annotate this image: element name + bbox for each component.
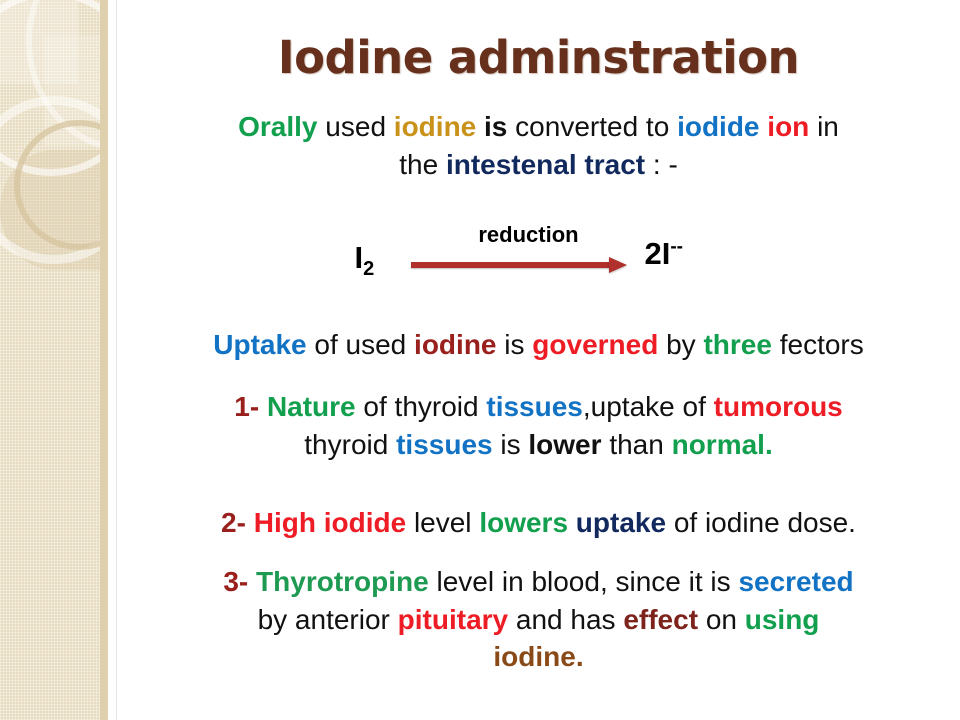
item1-word-normal: normal. (672, 429, 773, 460)
item2-word-lowers: lowers (479, 507, 568, 538)
intro-word-used: used (325, 111, 386, 142)
item3-word-iodine: iodine. (493, 641, 583, 672)
item1-word-than: than (609, 429, 664, 460)
item3-word-secreted: secreted (738, 566, 853, 597)
uptake-word-three: three (703, 329, 771, 360)
arrow-head (609, 257, 627, 273)
item1-word-thyroid: thyroid (304, 429, 388, 460)
intro-paragraph: Orally used iodine is converted to iodid… (117, 108, 960, 183)
intro-word-colon-dash: : - (653, 149, 678, 180)
page-title: Iodine adminstration (117, 34, 960, 81)
intro-word-in: in (817, 111, 839, 142)
list-item-2: 2- High iodide level lowers uptake of io… (117, 504, 960, 542)
intro-word-converted-to: converted to (515, 111, 669, 142)
item2-number: 2- (221, 507, 246, 538)
arrow-shaft (411, 262, 615, 268)
sidebar-edge-strip (100, 0, 108, 720)
intro-line-2: the intestenal tract : - (117, 146, 960, 184)
item2-word-level: level (414, 507, 472, 538)
chemical-equation: I2 reduction 2I-- (117, 222, 960, 292)
item3-word-pituitary: pituitary (398, 604, 508, 635)
uptake-word-uptake: Uptake (213, 329, 306, 360)
list-item-1: 1- Nature of thyroid tissues,uptake of t… (117, 388, 960, 463)
equation-reactant-symbol: I (355, 240, 364, 275)
uptake-word-fectors: fectors (780, 329, 864, 360)
equation-product-superscript: -- (670, 237, 683, 258)
item1-word-is: is (500, 429, 520, 460)
item1-word-tumorous: tumorous (714, 391, 843, 422)
item2-word-of-iodine-dose: of iodine dose. (674, 507, 856, 538)
item1-number: 1- (234, 391, 259, 422)
item3-line-2: by anterior pituitary and has effect on … (117, 601, 960, 639)
item3-word-using: using (745, 604, 820, 635)
uptake-word-iodine: iodine (414, 329, 496, 360)
item3-word-and-has: and has (516, 604, 616, 635)
uptake-word-by: by (666, 329, 696, 360)
item3-line-3: iodine. (117, 638, 960, 676)
equation-label: reduction (419, 222, 639, 248)
item1-word-tissues-2: tissues (396, 429, 493, 460)
intro-word-orally: Orally (238, 111, 317, 142)
item2-line: 2- High iodide level lowers uptake of io… (117, 504, 960, 542)
uptake-line: Uptake of used iodine is governed by thr… (117, 326, 960, 364)
equation-product-symbol: 2I (645, 236, 671, 271)
item1-word-lower: lower (528, 429, 601, 460)
item2-word-uptake: uptake (576, 507, 666, 538)
equation-product: 2I-- (645, 236, 684, 272)
intro-word-iodine: iodine (394, 111, 476, 142)
slide-canvas: Iodine adminstration Orally used iodine … (0, 0, 960, 720)
item1-word-tissues: tissues (486, 391, 583, 422)
item3-word-level-in-blood: level in blood, since it is (437, 566, 731, 597)
item3-word-effect: effect (623, 604, 698, 635)
intro-word-intestenal-tract: intestenal tract (446, 149, 645, 180)
uptake-word-governed: governed (532, 329, 658, 360)
item3-word-thyrotropine: Thyrotropine (256, 566, 429, 597)
item1-line-2: thyroid tissues is lower than normal. (117, 426, 960, 464)
item2-word-high-iodide: High iodide (254, 507, 406, 538)
intro-line-1: Orally used iodine is converted to iodid… (117, 108, 960, 146)
intro-word-the: the (399, 149, 438, 180)
uptake-paragraph: Uptake of used iodine is governed by thr… (117, 326, 960, 364)
item1-line-1: 1- Nature of thyroid tissues,uptake of t… (117, 388, 960, 426)
uptake-word-is: is (504, 329, 524, 360)
item3-word-by-anterior: by anterior (258, 604, 390, 635)
equation-inner: I2 reduction 2I-- (339, 222, 739, 292)
intro-word-ion: ion (767, 111, 809, 142)
item3-word-on: on (706, 604, 737, 635)
equation-reactant: I2 (355, 240, 375, 281)
slide-content: Iodine adminstration Orally used iodine … (117, 0, 960, 720)
intro-word-iodide: iodide (677, 111, 759, 142)
item1-word-uptake-of: ,uptake of (583, 391, 706, 422)
equation-reactant-subscript: 2 (363, 258, 374, 280)
decorative-sidebar (0, 0, 108, 720)
equation-arrow-icon (411, 258, 641, 272)
item3-line-1: 3- Thyrotropine level in blood, since it… (117, 563, 960, 601)
intro-word-is: is (484, 111, 507, 142)
uptake-word-of-used: of used (314, 329, 406, 360)
item1-word-of-thyroid: of thyroid (363, 391, 478, 422)
item3-number: 3- (223, 566, 248, 597)
item1-word-nature: Nature (267, 391, 356, 422)
list-item-3: 3- Thyrotropine level in blood, since it… (117, 563, 960, 676)
